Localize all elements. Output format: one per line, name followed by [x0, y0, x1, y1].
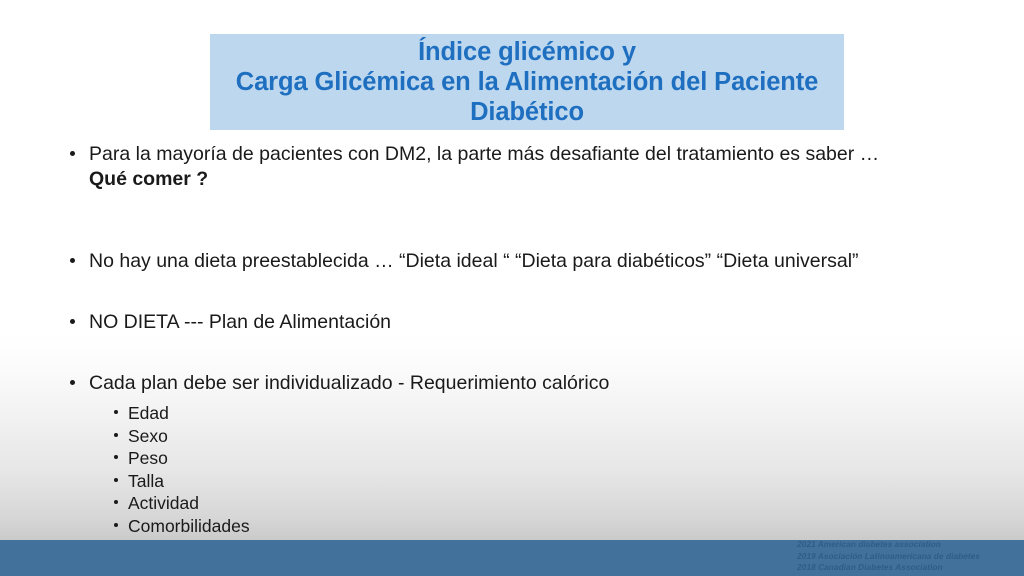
spacer-1 — [66, 192, 996, 249]
bullet-item-4-line1: Cada plan debe ser individualizado - Req… — [89, 372, 609, 394]
bullet-dot-icon — [70, 319, 75, 324]
footer-reference-line: 2019 Asociación Latinoamericana de diabe… — [797, 551, 980, 563]
sub-bullet-item-peso: Peso — [112, 447, 996, 470]
sub-bullet-dot-icon — [114, 500, 118, 504]
bullet-dot-icon — [70, 151, 75, 156]
bullet-dot-icon — [70, 380, 75, 385]
spacer-3 — [66, 335, 996, 371]
sub-bullet-dot-icon — [114, 433, 118, 437]
bullet-dot-icon — [70, 258, 75, 263]
sub-bullet-item-actividad: Actividad — [112, 492, 996, 515]
footer-reference-line: 2018 Canadian Diabetes Association — [797, 562, 980, 574]
bullet-item-3-line1: NO DIETA --- Plan de Alimentación — [89, 311, 391, 333]
bullet-item-1-line2: Qué comer ? — [89, 167, 996, 192]
presentation-slide: Índice glicémico y Carga Glicémica en la… — [0, 0, 1024, 576]
bullet-item-2: No hay una dieta preestablecida … “Dieta… — [66, 249, 996, 274]
bullet-item-2-line1: No hay una dieta preestablecida … “Dieta… — [89, 250, 859, 272]
sub-bullet-list: Edad Sexo Peso Talla Actividad Comorbili… — [66, 402, 996, 538]
bullet-item-3: NO DIETA --- Plan de Alimentación — [66, 310, 996, 335]
sub-bullet-item-edad: Edad — [112, 402, 996, 425]
sub-bullet-label: Sexo — [128, 426, 168, 446]
bullet-item-1: Para la mayoría de pacientes con DM2, la… — [66, 142, 996, 192]
slide-body: Para la mayoría de pacientes con DM2, la… — [66, 142, 996, 538]
sub-bullet-item-sexo: Sexo — [112, 425, 996, 448]
sub-bullet-label: Edad — [128, 403, 169, 423]
sub-bullet-label: Comorbilidades — [128, 516, 250, 536]
bullet-item-1-line1: Para la mayoría de pacientes con DM2, la… — [89, 143, 879, 165]
sub-bullet-item-comorbilidades: Comorbilidades — [112, 515, 996, 538]
sub-bullet-dot-icon — [114, 455, 118, 459]
sub-bullet-label: Talla — [128, 471, 164, 491]
spacer-2 — [66, 274, 996, 310]
sub-bullet-label: Peso — [128, 448, 168, 468]
slide-title-box: Índice glicémico y Carga Glicémica en la… — [210, 34, 844, 130]
slide-footer-references: 2021 American diabetes association 2019 … — [797, 539, 980, 574]
sub-bullet-item-talla: Talla — [112, 470, 996, 493]
sub-bullet-dot-icon — [114, 410, 118, 414]
slide-title-text: Índice glicémico y Carga Glicémica en la… — [228, 37, 827, 127]
sub-bullet-dot-icon — [114, 523, 118, 527]
sub-bullet-label: Actividad — [128, 493, 199, 513]
bullet-item-4: Cada plan debe ser individualizado - Req… — [66, 371, 996, 396]
footer-reference-line: 2021 American diabetes association — [797, 539, 980, 551]
sub-bullet-dot-icon — [114, 478, 118, 482]
